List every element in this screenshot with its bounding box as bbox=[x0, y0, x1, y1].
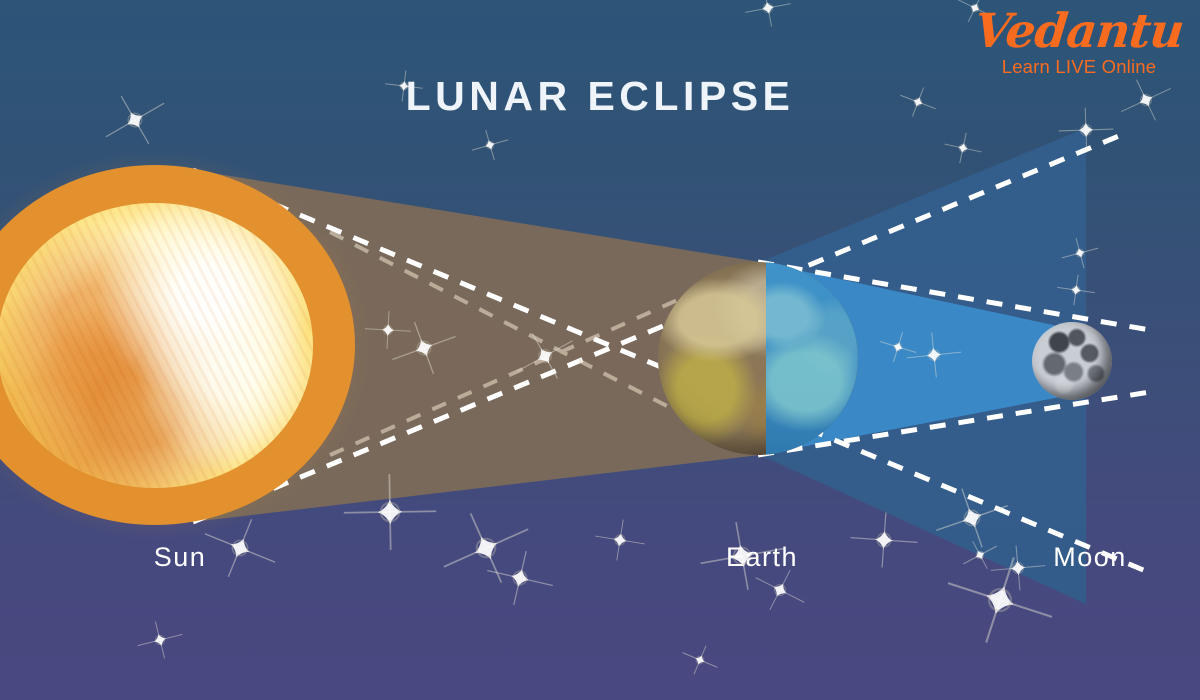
label-sun: Sun bbox=[90, 544, 270, 571]
brand-wordmark: Vedantu bbox=[970, 8, 1189, 55]
label-moon: Moon bbox=[1000, 544, 1180, 571]
sun-body bbox=[0, 165, 355, 525]
vedantu-logo[interactable]: Vedantu Learn LIVE Online bbox=[972, 8, 1186, 77]
earth-body bbox=[658, 262, 858, 455]
eclipse-illustration: LUNAR ECLIPSE Vedantu Learn LIVE Online … bbox=[0, 0, 1200, 700]
moon-surface bbox=[1032, 322, 1112, 400]
moon-body bbox=[1032, 322, 1112, 400]
page-title: LUNAR ECLIPSE bbox=[0, 76, 1200, 117]
label-earth: Earth bbox=[672, 544, 852, 571]
brand-tagline: Learn LIVE Online bbox=[972, 58, 1186, 77]
sun-photosphere bbox=[0, 203, 313, 488]
